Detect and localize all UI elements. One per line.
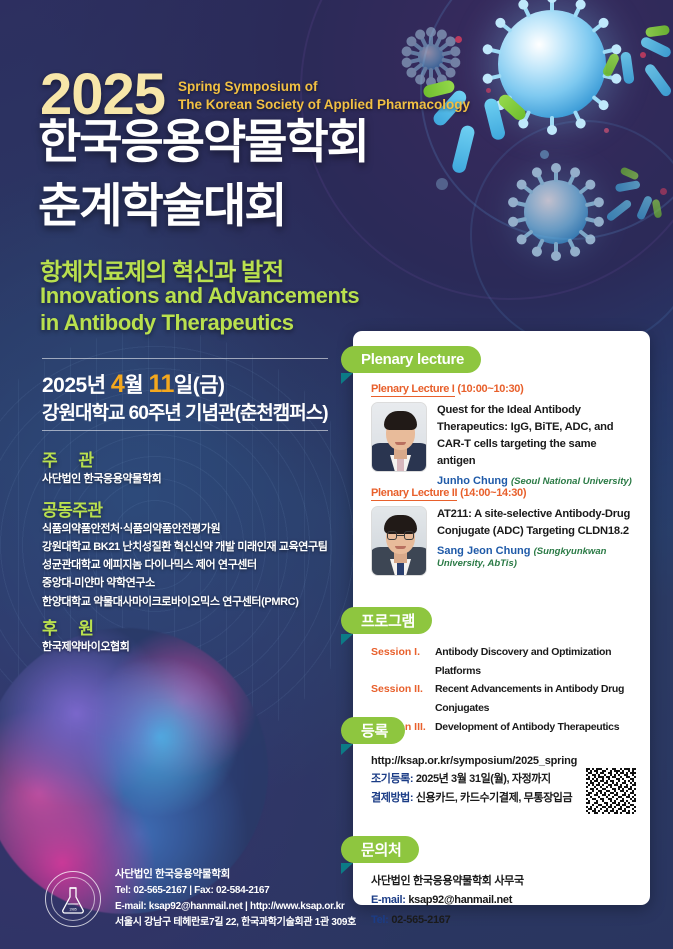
cohost-list: 식품의약품안전처·식품의약품안전평가원 강원대학교 BK21 난치성질환 혁신신… [42, 520, 327, 611]
tab-fold-icon [341, 744, 353, 755]
particle-dot [604, 128, 609, 133]
contact-info: 사단법인 한국응용약물학회 사무국 E-mail: ksap92@hanmail… [371, 872, 633, 930]
event-venue: 강원대학교 60주년 기념관(춘천캠퍼스) [42, 398, 328, 425]
session-row: Session II. Recent Advancements in Antib… [371, 680, 639, 717]
sponsor-item: 한국제약바이오협회 [42, 638, 129, 656]
theme-korean: 항체치료제의 혁신과 발전 [40, 252, 283, 287]
plenary-1-speaker-name: Junho Chung [437, 475, 508, 487]
tab-fold-icon [341, 634, 353, 645]
virus-particle-icon [524, 180, 588, 244]
footer-address: 서울시 강남구 테헤란로7길 22, 한국과학기술회관 1관 309호 [115, 915, 356, 931]
contact-tel-label: Tel: [371, 914, 389, 926]
speaker-photo-sang-jeon-chung [371, 506, 427, 576]
plenary-lecture-2: Plenary Lecture II (14:00~14:30) AT211: … [371, 487, 633, 576]
date-suffix: 일(금) [174, 374, 225, 397]
host-label: 주 관 [42, 446, 102, 471]
plenary-1-header: Plenary Lecture I (10:00~10:30) [371, 383, 633, 395]
early-registration-row: 조기등록: 2025년 3월 31일(월), 자정까지 [371, 770, 599, 786]
contact-email-row: E-mail: ksap92@hanmail.net [371, 891, 633, 910]
plenary-1-label: Plenary Lecture I [371, 383, 455, 397]
cohost-item: 중앙대-미얀마 약학연구소 [42, 574, 327, 592]
qr-code-icon[interactable] [586, 768, 636, 814]
particle-dot [640, 52, 646, 58]
tab-contact-label: 문의처 [361, 839, 402, 860]
session-row: Session I. Antibody Discovery and Optimi… [371, 643, 639, 680]
plenary-2-title: AT211: A site-selective Antibody-Drug Co… [437, 506, 633, 540]
event-date: 2025년 4월 11일(금) [42, 369, 225, 399]
plenary-2-speaker: Sang Jeon Chung (Sungkyunkwan University… [437, 545, 633, 569]
theme-english: Innovations and Advancements in Antibody… [40, 283, 359, 337]
date-prefix: 2025년 [42, 374, 111, 397]
virus-particle-icon [418, 44, 444, 70]
early-registration-label: 조기등록: [371, 773, 413, 785]
footer: 1985 사단법인 한국응용약물학회 Tel: 02-565-2167 | Fa… [45, 866, 356, 932]
contact-office: 사단법인 한국응용약물학회 사무국 [371, 872, 633, 891]
glasses-icon [387, 531, 414, 540]
footer-text-block: 사단법인 한국응용약물학회 Tel: 02-565-2167 | Fax: 02… [115, 866, 356, 932]
speaker-photo-junho-chung [371, 402, 427, 472]
particle-dot [455, 36, 462, 43]
plenary-lecture-1: Plenary Lecture I (10:00~10:30) Quest fo… [371, 383, 633, 487]
contact-tel-value: 02-565-2167 [391, 914, 450, 926]
event-title-korean: 춘계학술대회 [38, 182, 285, 229]
contact-email-label: E-mail: [371, 894, 406, 906]
sponsor-list: 한국제약바이오협회 [42, 638, 129, 656]
tab-program-label: 프로그램 [361, 610, 415, 631]
session-name: Antibody Discovery and Optimization Plat… [435, 643, 639, 680]
early-registration-value: 2025년 3월 31일(월), 자정까지 [416, 773, 551, 785]
registration-info: http://ksap.or.kr/symposium/2025_spring … [371, 755, 599, 805]
plenary-2-speaker-name: Sang Jeon Chung [437, 545, 531, 557]
society-seal-logo-icon: 1985 [45, 871, 101, 927]
footer-society-name: 사단법인 한국응용약물학회 [115, 866, 356, 883]
svg-text:1985: 1985 [69, 907, 77, 911]
contact-tel-row: Tel: 02-565-2167 [371, 911, 633, 930]
host-list: 사단법인 한국응용약물학회 [42, 470, 161, 488]
cohost-item: 한양대학교 약물대사마이크로바이오믹스 연구센터(PMRC) [42, 593, 327, 611]
plenary-1-speaker: Junho Chung (Seoul National University) [437, 475, 633, 487]
session-name: Development of Antibody Therapeutics [435, 718, 619, 737]
session-name: Recent Advancements in Antibody Drug Con… [435, 680, 639, 717]
payment-method-row: 결제방법: 신용카드, 카드수기결제, 무통장입금 [371, 789, 599, 805]
plenary-1-affiliation: (Seoul National University) [511, 476, 632, 487]
payment-method-value: 신용카드, 카드수기결제, 무통장입금 [416, 792, 572, 804]
tab-fold-icon [341, 863, 353, 874]
plenary-2-header: Plenary Lecture II (14:00~14:30) [371, 487, 633, 499]
plenary-1-title: Quest for the Ideal Antibody Therapeutic… [437, 402, 633, 470]
date-month: 4 [111, 370, 124, 398]
sponsor-label: 후 원 [42, 614, 102, 639]
theme-english-line1: Innovations and Advancements [40, 283, 359, 310]
particle-dot [660, 188, 667, 195]
particle-dot [486, 88, 491, 93]
cohost-item: 성균관대학교 에피지놈 다이나믹스 제어 연구센터 [42, 556, 327, 574]
symposium-subtitle-line2: The Korean Society of Applied Pharmacolo… [178, 96, 470, 114]
tab-fold-icon [341, 373, 353, 384]
tab-plenary-label: Plenary lecture [361, 351, 464, 368]
host-item: 사단법인 한국응용약물학회 [42, 470, 161, 488]
conference-poster: 2025 Spring Symposium of The Korean Soci… [0, 0, 673, 949]
plenary-2-time: (14:00~14:30) [460, 487, 526, 499]
particle-dot [540, 150, 549, 159]
tab-registration-label: 등록 [361, 720, 388, 741]
payment-method-label: 결제방법: [371, 792, 413, 804]
session-number: Session I. [371, 643, 429, 680]
registration-url[interactable]: http://ksap.or.kr/symposium/2025_spring [371, 755, 599, 767]
divider-top [42, 358, 328, 359]
session-row: Session III. Development of Antibody The… [371, 718, 639, 737]
symposium-subtitle: Spring Symposium of The Korean Society o… [178, 78, 470, 114]
society-title-korean: 한국응용약물학회 [38, 118, 368, 165]
plenary-1-time: (10:00~10:30) [457, 383, 523, 395]
tab-contact: 문의처 [341, 836, 419, 863]
cohost-item: 식품의약품안전처·식품의약품안전평가원 [42, 520, 327, 538]
tab-program: 프로그램 [341, 607, 432, 634]
program-session-list: Session I. Antibody Discovery and Optimi… [371, 643, 639, 736]
divider-bottom [42, 430, 328, 431]
tab-registration: 등록 [341, 717, 405, 744]
footer-tel-fax: Tel: 02-565-2167 | Fax: 02-584-2167 [115, 883, 356, 899]
info-panel: Plenary lecture Plenary Lecture I (10:00… [353, 331, 650, 905]
particle-dot [436, 178, 448, 190]
tab-plenary-lecture: Plenary lecture [341, 346, 481, 373]
plenary-2-label: Plenary Lecture II [371, 487, 457, 501]
date-day: 11 [148, 370, 173, 398]
contact-email-value[interactable]: ksap92@hanmail.net [408, 894, 512, 906]
theme-english-line2: in Antibody Therapeutics [40, 310, 359, 337]
footer-email-website: E-mail: ksap92@hanmail.net | http://www.… [115, 899, 356, 915]
date-month-unit: 월 [124, 374, 148, 397]
session-number: Session II. [371, 680, 429, 717]
cohost-item: 강원대학교 BK21 난치성질환 혁신신약 개발 미래인재 교육연구팀 [42, 538, 327, 556]
symposium-subtitle-line1: Spring Symposium of [178, 78, 470, 96]
cohost-label: 공동주관 [42, 496, 103, 521]
